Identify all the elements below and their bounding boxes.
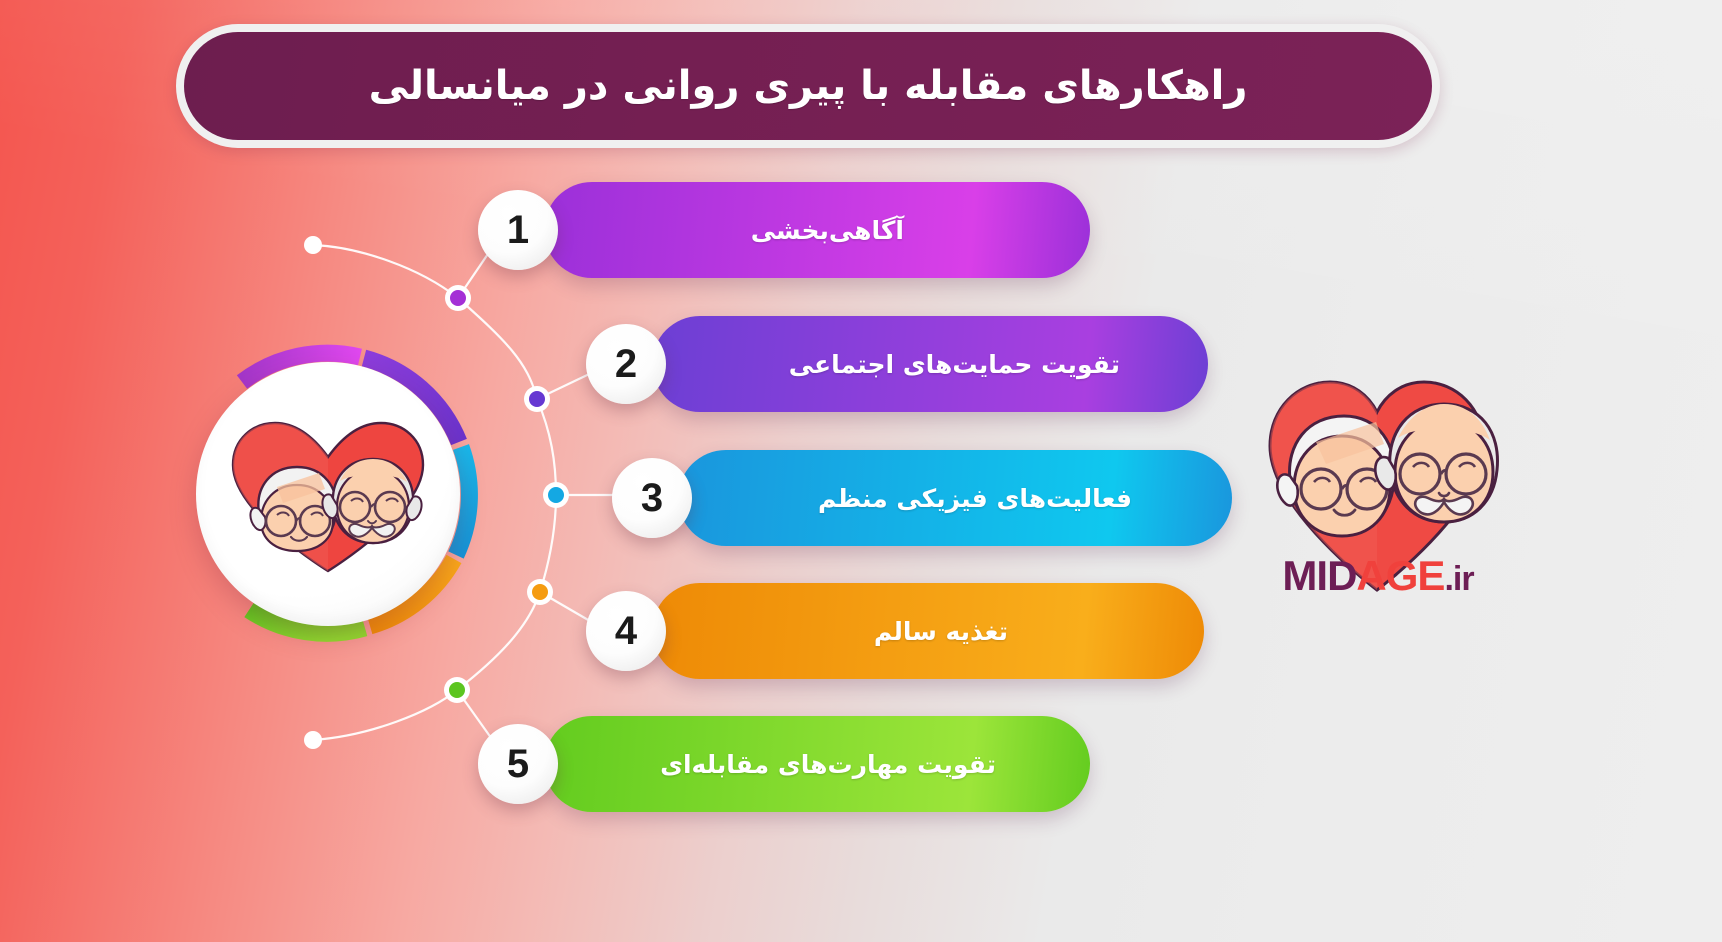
connector-node-5 [444,677,470,703]
step-label-1: آگاهی‌بخشی [751,216,904,245]
wordmark-part1: MID [1282,552,1356,599]
step-number-badge-3[interactable]: 3 [612,458,692,538]
step-label-2: تقویت حمایت‌های اجتماعی [789,350,1120,379]
step-number-badge-2[interactable]: 2 [586,324,666,404]
step-number-badge-1[interactable]: 1 [478,190,558,270]
step-pill-4[interactable]: تغذیه سالم [652,583,1204,679]
elderly-couple-heart-icon [215,409,441,579]
step-label-3: فعالیت‌های فیزیکی منظم [818,484,1132,513]
step-number-badge-4[interactable]: 4 [586,591,666,671]
step-pill-5[interactable]: تقویت مهارت‌های مقابله‌ای [544,716,1090,812]
connector-node-1 [445,285,471,311]
brand-wordmark: MIDAGE.ir [1255,552,1501,600]
connector-node-4 [527,579,553,605]
medallion-disc [196,362,460,626]
step-number-5: 5 [507,744,529,784]
connector-node-3 [543,482,569,508]
step-label-4: تغذیه سالم [874,617,1008,646]
step-number-badge-5[interactable]: 5 [478,724,558,804]
step-label-5: تقویت مهارت‌های مقابله‌ای [660,750,996,779]
step-number-2: 2 [615,344,637,384]
wordmark-part3: .ir [1444,560,1473,598]
step-number-4: 4 [615,611,637,651]
step-pill-2[interactable]: تقویت حمایت‌های اجتماعی [652,316,1208,412]
step-pill-1[interactable]: آگاهی‌بخشی [544,182,1090,278]
connector-node-2 [524,386,550,412]
wordmark-part2: AGE [1356,552,1444,599]
step-pill-3[interactable]: فعالیت‌های فیزیکی منظم [678,450,1232,546]
center-medallion [178,330,478,655]
step-number-3: 3 [641,478,663,518]
step-number-1: 1 [507,210,529,250]
